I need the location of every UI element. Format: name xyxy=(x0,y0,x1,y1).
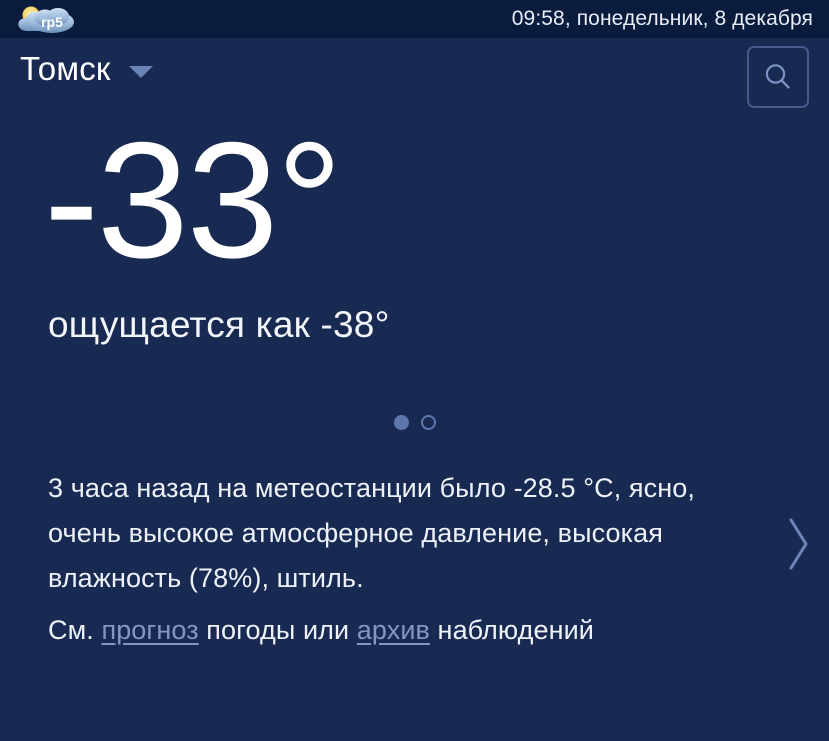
current-temperature: -33° xyxy=(0,118,829,290)
search-icon xyxy=(761,60,795,94)
svg-text:rp5: rp5 xyxy=(41,14,63,30)
links-line: См. прогноз погоды или архив наблюдений xyxy=(48,609,760,651)
current-conditions: -33° ощущается как -38° xyxy=(0,118,829,346)
links-suffix: наблюдений xyxy=(430,615,594,645)
status-bar: rp5 09:58, понедельник, 8 декабря xyxy=(0,0,829,38)
links-middle: погоды или xyxy=(199,615,357,645)
status-bar-left: rp5 xyxy=(0,3,82,35)
search-button[interactable] xyxy=(747,46,809,108)
rp5-logo[interactable]: rp5 xyxy=(14,3,82,35)
weather-app-screen: rp5 09:58, понедельник, 8 декабря Томск … xyxy=(0,0,829,741)
carousel-dot-2[interactable] xyxy=(421,415,436,430)
app-header: Томск xyxy=(0,38,829,118)
feels-like-temperature: ощущается как -38° xyxy=(0,304,829,346)
carousel-pagination xyxy=(0,415,829,430)
forecast-link[interactable]: прогноз xyxy=(101,615,198,645)
city-selector[interactable]: Томск xyxy=(20,52,153,85)
archive-link[interactable]: архив xyxy=(357,615,430,645)
carousel-dot-1[interactable] xyxy=(394,415,409,430)
next-page-button[interactable] xyxy=(775,508,821,580)
observation-text: 3 часа назад на метеостанции было -28.5 … xyxy=(48,466,760,601)
city-name: Томск xyxy=(20,52,111,85)
status-bar-datetime: 09:58, понедельник, 8 декабря xyxy=(512,7,829,31)
links-prefix: См. xyxy=(48,615,101,645)
chevron-right-icon xyxy=(784,514,812,574)
chevron-down-icon xyxy=(129,66,153,78)
